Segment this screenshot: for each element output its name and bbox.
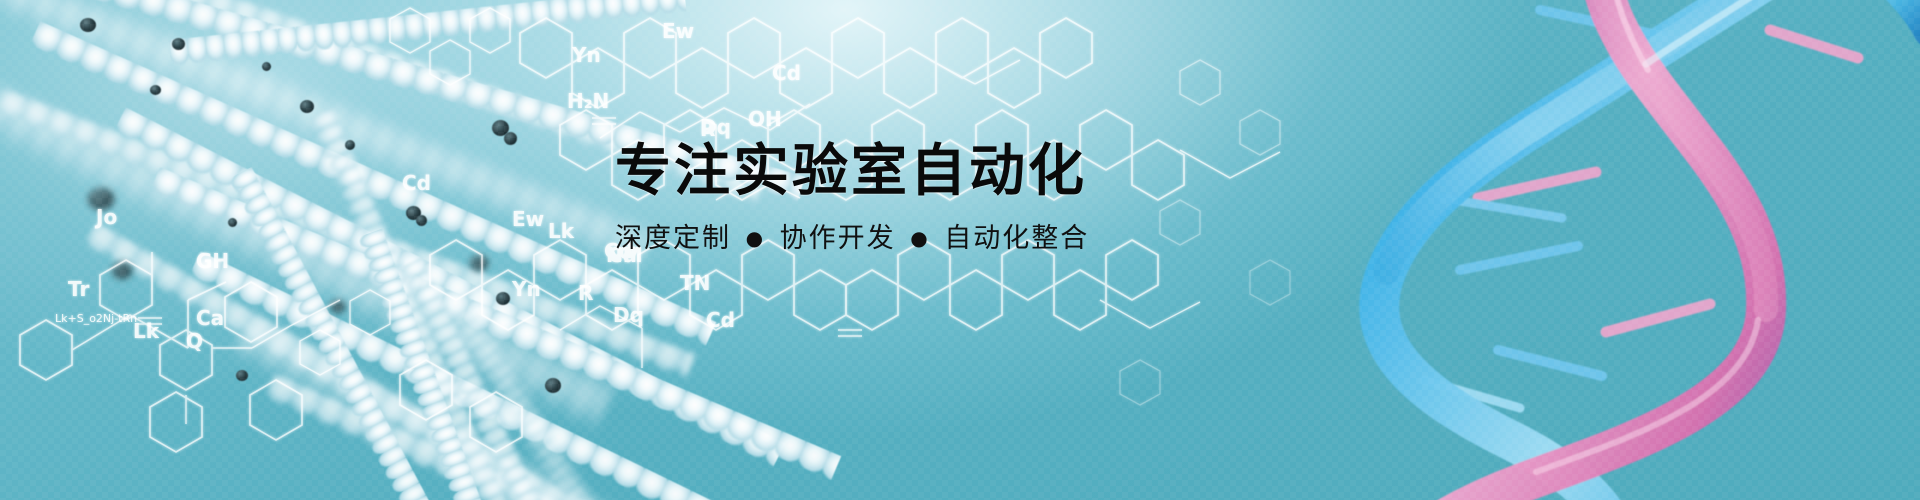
- subtitle-item-1: 深度定制: [615, 223, 731, 254]
- dna-double-helix-graphic: [1210, 0, 1920, 500]
- banner-text-block: 专注实验室自动化 深度定制 ● 协作开发 ● 自动化整合: [615, 142, 1315, 256]
- page-title: 专注实验室自动化: [615, 142, 1315, 201]
- subtitle-item-3: 自动化整合: [944, 223, 1089, 254]
- subtitle-item-2: 协作开发: [780, 223, 896, 254]
- bullet-separator-icon: ●: [906, 226, 933, 250]
- bullet-separator-icon: ●: [742, 226, 769, 250]
- hero-banner: CdYnEwEwH₂NOHRDqCdLkYnNMCdGHTrJoQCaLkLk+…: [0, 0, 1920, 500]
- banner-subtitle: 深度定制 ● 协作开发 ● 自动化整合: [615, 223, 1315, 255]
